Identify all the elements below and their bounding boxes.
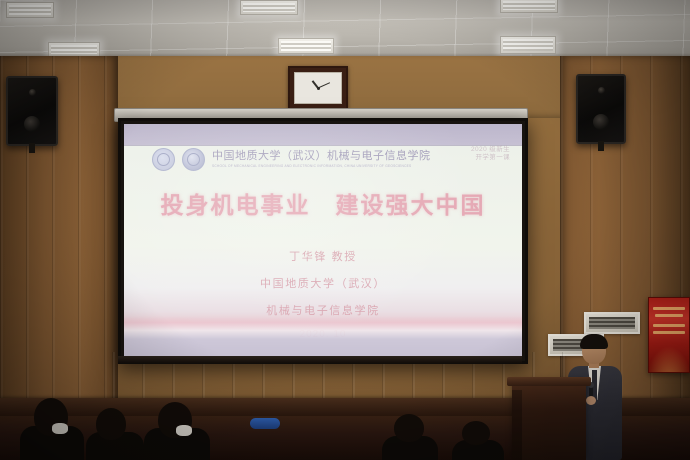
presenter-hand	[586, 396, 596, 405]
institution-name-en: SCHOOL OF MECHANICAL ENGINEERING AND ELE…	[212, 165, 431, 168]
screen-bottom-bar	[118, 356, 522, 363]
blue-chair	[250, 418, 280, 429]
presentation-slide: 中国地质大学（武汉）机械与电子信息学院 SCHOOL OF MECHANICAL…	[124, 124, 522, 358]
slide-header-divider	[124, 145, 522, 146]
slide-speaker-name: 丁华锋 教授	[124, 248, 522, 264]
ceiling	[0, 0, 690, 62]
ceiling-light-panel	[6, 2, 54, 18]
ceiling-light-panel	[240, 0, 298, 15]
slide-institution-text: 中国地质大学（武汉）机械与电子信息学院 SCHOOL OF MECHANICAL…	[212, 151, 431, 168]
institution-name-cn: 中国地质大学（武汉）机械与电子信息学院	[212, 151, 431, 162]
podium-side	[512, 390, 522, 460]
wall-clock-icon	[288, 66, 348, 110]
ceiling-light-panel	[48, 42, 100, 57]
loudspeaker-icon	[6, 76, 58, 146]
ceiling-light-panel	[278, 38, 334, 54]
projection-screen: 中国地质大学（武汉）机械与电子信息学院 SCHOOL OF MECHANICAL…	[118, 118, 528, 364]
slide-logos: 中国地质大学（武汉）机械与电子信息学院 SCHOOL OF MECHANICAL…	[152, 148, 431, 171]
ceiling-light-panel	[500, 0, 558, 13]
presenter-glasses-icon	[584, 346, 604, 352]
red-poster-banner	[648, 297, 690, 373]
lecture-hall-photo: 中国地质大学（武汉）机械与电子信息学院 SCHOOL OF MECHANICAL…	[0, 0, 690, 460]
slide-footer-band	[124, 316, 522, 358]
ceiling-light-panel	[500, 36, 556, 54]
loudspeaker-icon	[576, 74, 626, 144]
school-seal-icon	[182, 148, 205, 171]
slide-header-band	[124, 124, 522, 145]
year-badge-line2: 开学第一课	[471, 154, 510, 162]
air-vent-icon	[584, 312, 640, 334]
podium-top	[507, 377, 591, 386]
slide-year-badge: 2020 级新生 开学第一课	[471, 146, 510, 162]
year-badge-line1: 2020 级新生	[471, 146, 510, 154]
university-seal-icon	[152, 148, 175, 171]
ceiling-tiles	[0, 0, 690, 62]
slide-title: 投身机电事业 建设强大中国	[124, 186, 522, 220]
slide-affiliation-university: 中国地质大学（武汉）	[124, 275, 522, 291]
podium	[512, 382, 586, 460]
